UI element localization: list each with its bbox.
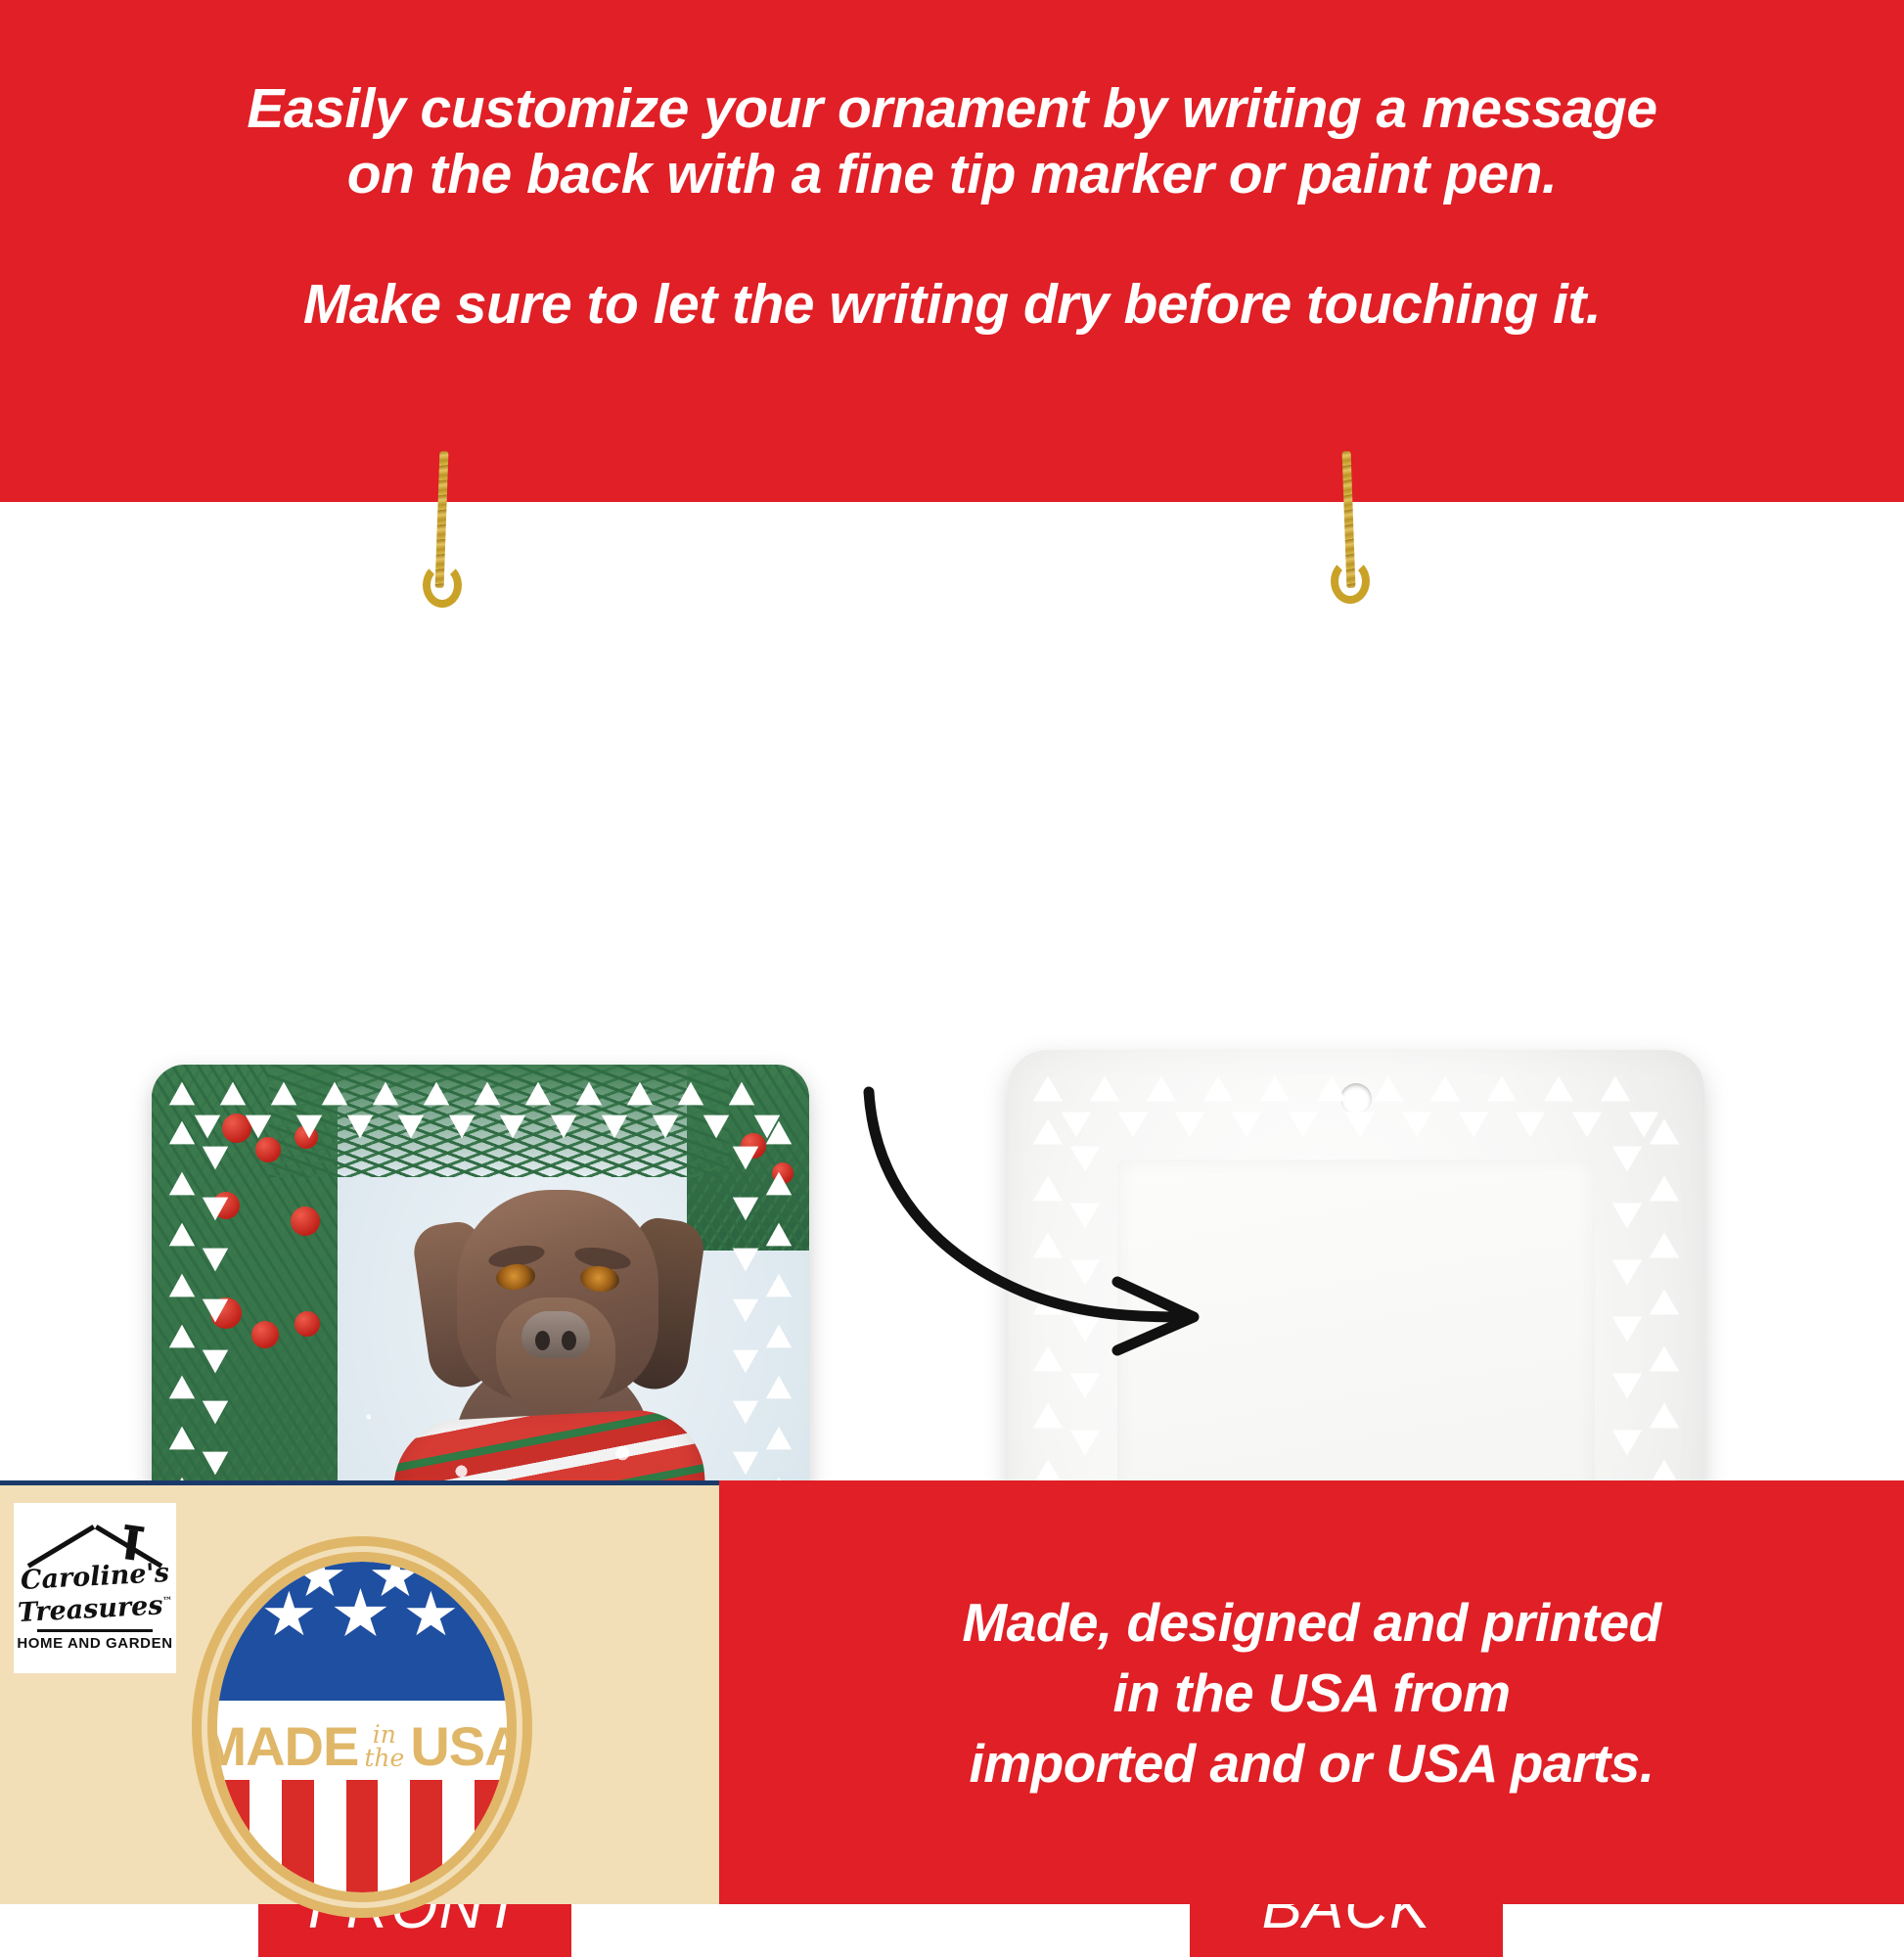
badge-usa-text: USA (410, 1719, 507, 1774)
holly-berry (741, 1133, 766, 1159)
made-in-usa-badge: MADE in the USA (192, 1536, 532, 1918)
footer-text-line-1: Made, designed and printed (962, 1587, 1660, 1658)
header-line-3: Make sure to let the writing dry before … (91, 272, 1813, 338)
carolines-treasures-logo: Caroline's Treasures™ HOME AND GARDEN (14, 1503, 176, 1673)
footer: Caroline's Treasures™ HOME AND GARDEN (0, 1480, 1904, 1904)
pointer-arrow-icon (861, 1065, 1331, 1456)
cord-loop-back-icon (1331, 559, 1370, 604)
holly-berry (222, 1114, 251, 1143)
star-icon (333, 1588, 387, 1641)
dog-nostril-left (535, 1331, 550, 1350)
border-cutout (1428, 1073, 1462, 1103)
stripe (346, 1780, 379, 1892)
border-cutout (1343, 1111, 1377, 1140)
star-icon (405, 1591, 456, 1640)
dog-nose (521, 1311, 590, 1358)
cord-loop-front-icon (423, 563, 462, 608)
stripe (378, 1780, 410, 1892)
border-cutout (1627, 1111, 1660, 1140)
dog-nostril-right (562, 1331, 576, 1350)
border-cutout (1570, 1111, 1604, 1140)
logo-name-line-2: Treasures™ (17, 1587, 173, 1628)
border-cutout (1610, 1202, 1644, 1231)
footer-text-line-3: imported and or USA parts. (969, 1728, 1654, 1798)
border-cutout (1610, 1258, 1644, 1288)
header-line-2: on the back with a fine tip marker or pa… (91, 142, 1813, 207)
border-cutout (1610, 1145, 1644, 1174)
badge-in-the-text: in the (364, 1723, 404, 1770)
header-line-1: Easily customize your ornament by writin… (91, 76, 1813, 142)
holly-berry (295, 1311, 320, 1337)
chimney-icon (125, 1530, 138, 1561)
border-cutout (1514, 1111, 1547, 1140)
badge-text-row: MADE in the USA (217, 1707, 507, 1787)
border-cutout (1610, 1429, 1644, 1458)
footer-made-in-usa-panel: Made, designed and printed in the USA fr… (719, 1480, 1904, 1904)
border-cutout (1648, 1116, 1681, 1146)
holly-berry (210, 1297, 242, 1329)
logo-tagline: HOME AND GARDEN (17, 1635, 172, 1652)
border-cutout (1400, 1111, 1433, 1140)
trademark-symbol: ™ (162, 1596, 173, 1608)
stripe (410, 1780, 442, 1892)
badge-made-text: MADE (217, 1719, 358, 1774)
border-cutout (1648, 1400, 1681, 1430)
border-cutout (1610, 1372, 1644, 1401)
star-icon (263, 1591, 314, 1640)
stripe (282, 1780, 314, 1892)
hanging-hole (1340, 1083, 1372, 1115)
pine-garland-top (269, 1065, 729, 1177)
logo-name-line-2-text: Treasures (17, 1590, 163, 1628)
border-cutout (1648, 1287, 1681, 1316)
badge-the-text: the (364, 1747, 404, 1770)
footer-text-line-2: in the USA from (1112, 1658, 1510, 1728)
footer-branding-panel: Caroline's Treasures™ HOME AND GARDEN (0, 1480, 719, 1904)
holly-berry (291, 1206, 320, 1236)
border-cutout (1542, 1073, 1575, 1103)
border-cutout (1610, 1315, 1644, 1344)
border-cutout (1648, 1173, 1681, 1203)
border-cutout (1457, 1111, 1490, 1140)
border-cutout (1485, 1073, 1519, 1103)
badge-face: MADE in the USA (217, 1562, 507, 1892)
holly-berry (212, 1192, 240, 1219)
holly-berry (251, 1321, 279, 1348)
holly-berry (255, 1137, 281, 1162)
border-cutout (1599, 1073, 1632, 1103)
border-cutout (1372, 1073, 1405, 1103)
logo-divider (37, 1629, 153, 1632)
holly-berry (772, 1162, 793, 1184)
stripe (314, 1780, 346, 1892)
border-cutout (1648, 1230, 1681, 1259)
product-showcase: FRONT BACK (0, 502, 1904, 1480)
holly-berry (295, 1125, 318, 1149)
border-cutout (1648, 1343, 1681, 1373)
instructions-header: Easily customize your ornament by writin… (0, 0, 1904, 502)
